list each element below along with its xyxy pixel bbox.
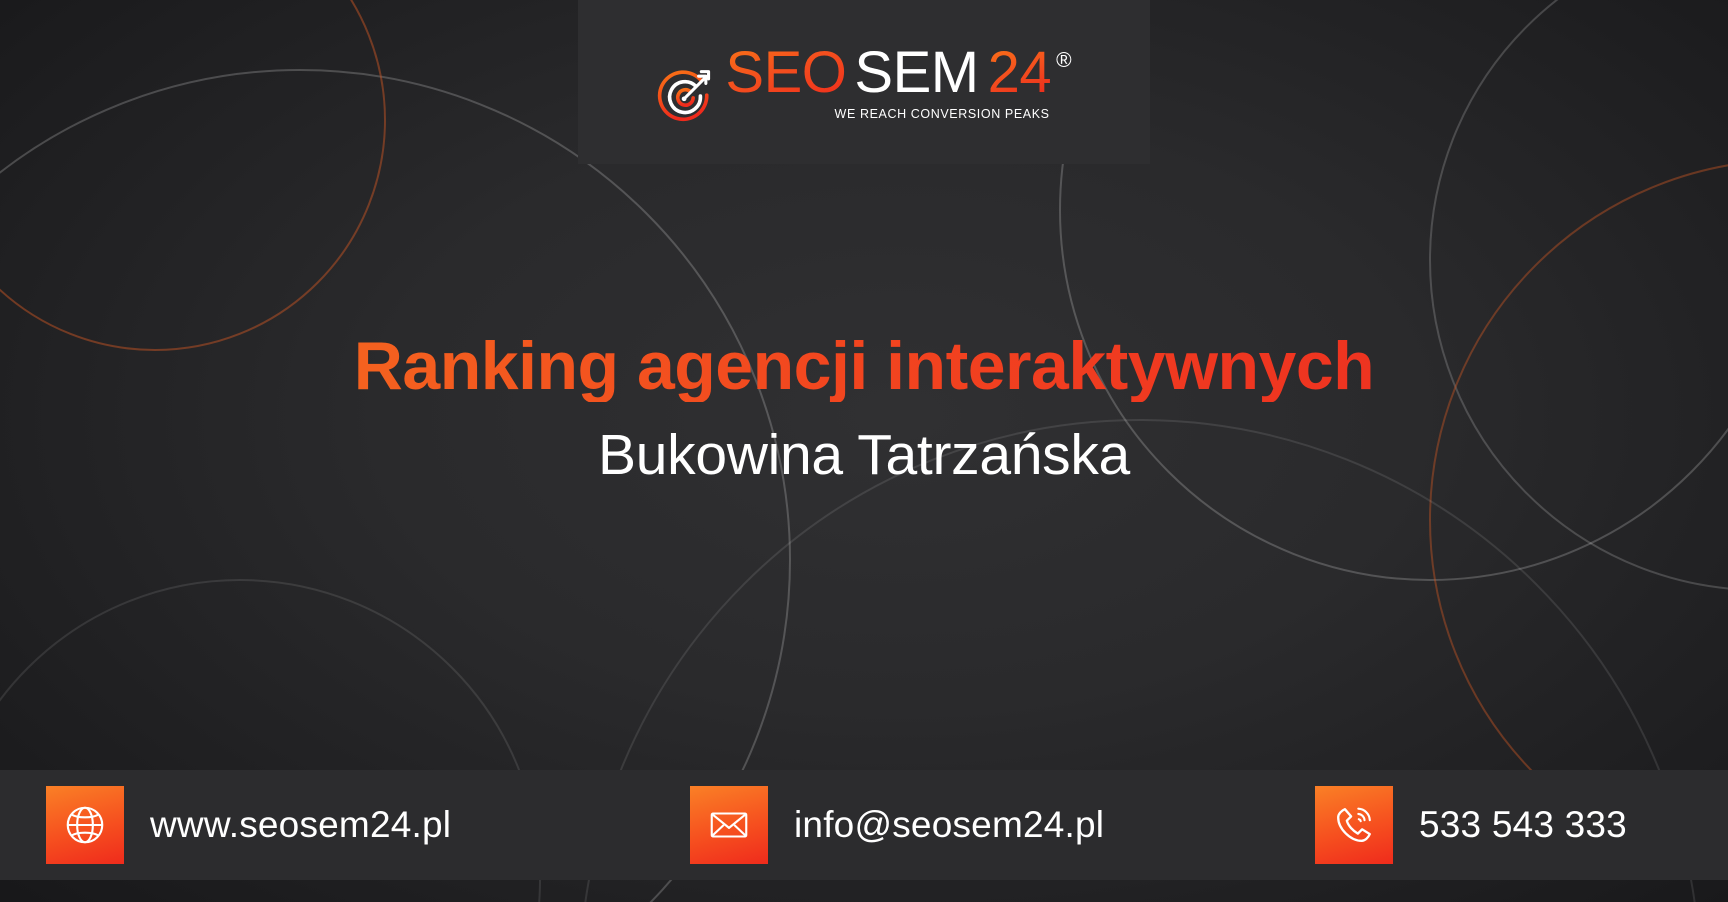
seosem24-logo[interactable]: SEO SEM 24 ® WE REACH CONVERSION PEAKS (656, 44, 1071, 121)
logo-words-row: SEO SEM 24 ® (725, 44, 1071, 102)
target-dart-icon (656, 56, 714, 114)
phone-icon (1315, 786, 1393, 864)
logo-plate: SEO SEM 24 ® WE REACH CONVERSION PEAKS (578, 0, 1150, 164)
contact-label-phone: 533 543 333 (1419, 804, 1627, 846)
contact-item-website[interactable]: www.seosem24.pl (46, 786, 451, 864)
decor-circle-far-right-gray (1430, 0, 1728, 590)
logo-wordmark: SEO SEM 24 ® WE REACH CONVERSION PEAKS (725, 44, 1071, 121)
logo-word-24: 24 (988, 44, 1052, 102)
envelope-icon (690, 786, 768, 864)
globe-icon (46, 786, 124, 864)
contact-bar: www.seosem24.pl info@seosem24.pl (0, 770, 1728, 880)
registered-trademark-icon: ® (1056, 50, 1071, 71)
page-title: Ranking agencji interaktywnych (0, 330, 1728, 402)
decor-circle-right-gray (1060, 0, 1728, 580)
hero-text-block: Ranking agencji interaktywnych Bukowina … (0, 330, 1728, 487)
contact-item-email[interactable]: info@seosem24.pl (690, 786, 1104, 864)
logo-tagline: WE REACH CONVERSION PEAKS (835, 107, 1050, 121)
page-subtitle: Bukowina Tatrzańska (0, 424, 1728, 487)
contact-item-phone[interactable]: 533 543 333 (1315, 786, 1627, 864)
contact-label-email: info@seosem24.pl (794, 804, 1104, 846)
decor-circle-left-orange (0, 0, 385, 350)
logo-word-sem: SEM (854, 44, 978, 102)
slide-canvas: SEO SEM 24 ® WE REACH CONVERSION PEAKS R… (0, 0, 1728, 902)
logo-word-seo: SEO (725, 44, 846, 102)
contact-label-website: www.seosem24.pl (150, 804, 451, 846)
